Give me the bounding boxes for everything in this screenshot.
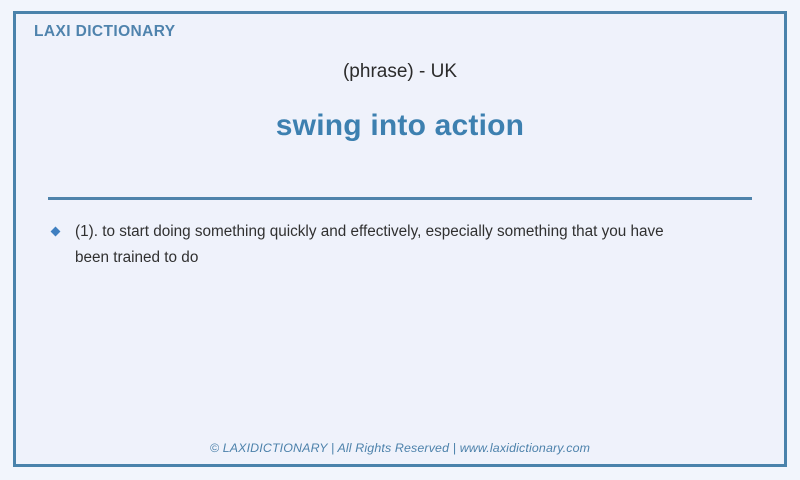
definition-divider (48, 197, 752, 200)
headword-term: swing into action (16, 108, 784, 144)
card-inner: LAXI DICTIONARY (phrase) - UK swing into… (16, 14, 784, 464)
definition-text: (1). to start doing something quickly an… (75, 219, 687, 271)
footer-copyright-text: © LAXIDICTIONARY | All Rights Reserved |… (210, 441, 590, 455)
diamond-bullet-icon (51, 227, 61, 237)
brand-title: LAXI DICTIONARY (34, 23, 175, 41)
dictionary-card: LAXI DICTIONARY (phrase) - UK swing into… (13, 11, 787, 467)
headword-block: (phrase) - UK swing into action (16, 60, 784, 144)
definition-list: (1). to start doing something quickly an… (48, 219, 758, 279)
definition-item: (1). to start doing something quickly an… (48, 219, 758, 271)
card-footer: © LAXIDICTIONARY | All Rights Reserved |… (16, 439, 784, 457)
part-of-speech-label: (phrase) - UK (16, 60, 784, 84)
